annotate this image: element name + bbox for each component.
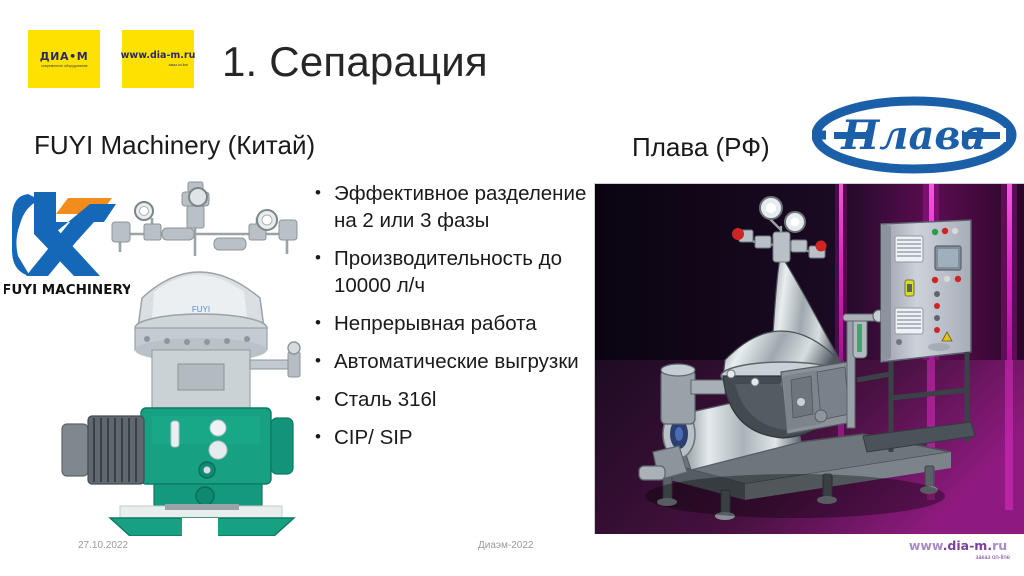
dia-m-url-text: www.dia-m.ru xyxy=(121,51,196,61)
fuyi-logo-label: FUYI MACHINERY xyxy=(4,282,130,298)
page-title: 1. Сепарация xyxy=(222,38,488,86)
list-item: Сталь 316l xyxy=(312,386,602,413)
list-item: Производительность до 10000 л/ч xyxy=(312,245,602,299)
footer-center-label: Диаэм-2022 xyxy=(478,540,533,551)
footer-url-main: .dia-m. xyxy=(943,538,992,553)
footer-url-www: www xyxy=(909,538,943,553)
right-section-heading: Плава (РФ) xyxy=(632,132,770,163)
dia-m-url-logo: www.dia-m.ru заказ on-line xyxy=(122,30,194,88)
footer-url-tagline: заказ on-line xyxy=(898,555,1018,561)
footer-dia-m-logo[interactable]: www.dia-m.ru заказ on-line xyxy=(898,540,1018,561)
brand-logo-strip: ДИА•М современное оборудование www.dia-m… xyxy=(28,30,194,88)
diam-logo-tagline: современное оборудование xyxy=(41,64,88,68)
fuyi-machinery-logo: FUYI MACHINERY xyxy=(4,180,130,300)
list-item: Непрерывная работа xyxy=(312,310,602,337)
left-section-heading: FUYI Machinery (Китай) xyxy=(34,130,315,161)
list-item: CIP/ SIP xyxy=(312,424,602,451)
footer-url: www.dia-m.ru xyxy=(898,540,1018,553)
plava-separator-photo xyxy=(594,183,1024,534)
footer-url-tld: ru xyxy=(992,538,1007,553)
dia-m-url-tagline: заказ on-line xyxy=(168,63,188,67)
footer-date: 27.10.2022 xyxy=(78,540,128,551)
svg-text:FUYI: FUYI xyxy=(192,305,210,314)
list-item: Эффективное разделение на 2 или 3 фазы xyxy=(312,180,602,234)
feature-bullet-list: Эффективное разделение на 2 или 3 фазы П… xyxy=(312,180,602,462)
diam-logo-word: ДИА•М xyxy=(40,51,89,62)
plava-logo: Плава xyxy=(812,96,1017,174)
list-item: Автоматические выгрузки xyxy=(312,348,602,375)
diam-logo: ДИА•М современное оборудование xyxy=(28,30,100,88)
